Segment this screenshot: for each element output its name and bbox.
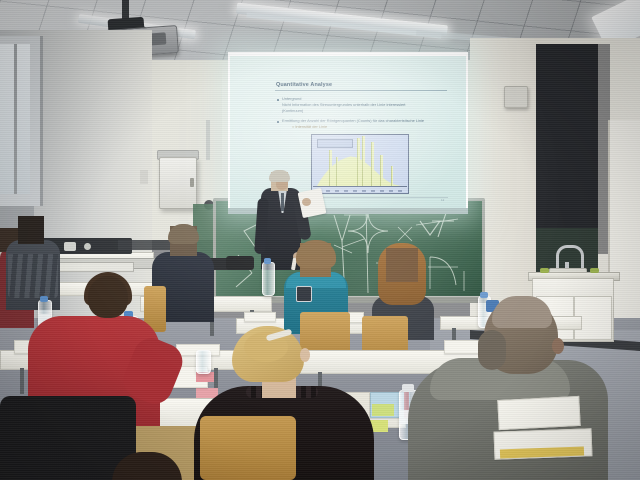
lab-equipment xyxy=(118,240,176,250)
participant-scalp xyxy=(492,296,552,328)
water-valve-icon[interactable] xyxy=(590,268,599,273)
keyboard[interactable] xyxy=(56,262,134,272)
participant-ear xyxy=(300,348,310,362)
axis-tick xyxy=(353,190,357,192)
paper-sheet xyxy=(244,312,276,322)
green-sticky-note xyxy=(372,404,394,416)
slide-bullet-1-heading: Untergrund xyxy=(282,96,432,101)
participant-head xyxy=(88,276,128,318)
chart-legend xyxy=(317,139,353,148)
bullet-marker xyxy=(277,99,279,101)
slide-bullet-2-line-1: Ermittlung der Anzahl der Röntgenquanten… xyxy=(282,118,442,123)
chart-peak xyxy=(336,157,338,186)
participant-hair xyxy=(478,330,506,370)
participant-hair xyxy=(168,224,199,244)
water-bottle xyxy=(262,262,275,296)
chair-back[interactable] xyxy=(200,416,296,480)
axis-tick xyxy=(344,190,348,192)
participant-hair xyxy=(296,240,336,268)
slide-bullet-1-line-2: (Kontinuum) xyxy=(282,108,438,113)
table-leg xyxy=(214,368,218,390)
wall-speaker-icon xyxy=(504,86,528,108)
slide-spectrum-chart xyxy=(311,134,409,194)
chart-x-axis xyxy=(313,186,407,193)
axis-tick xyxy=(335,190,339,192)
slide-bullet-2-line-2: = Intensität der Linie xyxy=(292,124,442,129)
slide-bullet-1-line-1: Nicht Information des Streuuntergrundes … xyxy=(282,102,438,107)
participant-ear xyxy=(552,338,564,354)
drinking-glass xyxy=(196,350,211,374)
dark-equipment xyxy=(226,256,254,270)
window-mullion xyxy=(14,44,17,194)
slide-title: Quantitative Analyse xyxy=(276,82,436,88)
bottle-cap xyxy=(480,292,488,298)
wall-conduit xyxy=(206,120,210,160)
bottle-cap xyxy=(264,258,271,264)
presenter-hand xyxy=(302,198,311,206)
chart-peak xyxy=(391,166,393,186)
chart-peak xyxy=(357,138,360,186)
bullet-marker xyxy=(277,121,279,123)
axis-tick xyxy=(362,190,366,192)
presenter-hair xyxy=(269,170,290,182)
slide-page-number: 12 xyxy=(441,198,444,202)
table-leg xyxy=(20,368,24,394)
slide-title-rule xyxy=(275,90,447,91)
chart-peak xyxy=(371,142,374,186)
presenter-tie xyxy=(281,193,284,211)
axis-tick xyxy=(398,190,402,192)
chart-plot-area xyxy=(313,136,407,186)
bottle-cap xyxy=(402,384,414,392)
wall-label xyxy=(140,170,148,184)
chart-peak xyxy=(329,150,332,186)
chart-peak xyxy=(362,136,365,186)
chart-peak xyxy=(380,155,383,186)
cabinet-latch-icon[interactable] xyxy=(190,178,194,187)
participant-head xyxy=(386,248,418,282)
classroom-photograph: Quantitative Analyse Untergrund Nicht In… xyxy=(0,0,640,480)
notebook xyxy=(497,396,580,430)
equipment-knob-icon[interactable] xyxy=(64,242,76,251)
axis-tick xyxy=(326,190,330,192)
shoulder-patch-icon xyxy=(296,286,312,302)
axis-tick xyxy=(380,190,384,192)
axis-tick xyxy=(389,190,393,192)
equipment-knob-icon[interactable] xyxy=(84,243,91,250)
bottle-cap xyxy=(40,296,48,302)
participant-head xyxy=(18,216,44,244)
axis-tick xyxy=(371,190,375,192)
participant-jacket-pattern xyxy=(8,254,58,298)
gas-valve-icon[interactable] xyxy=(540,268,549,273)
